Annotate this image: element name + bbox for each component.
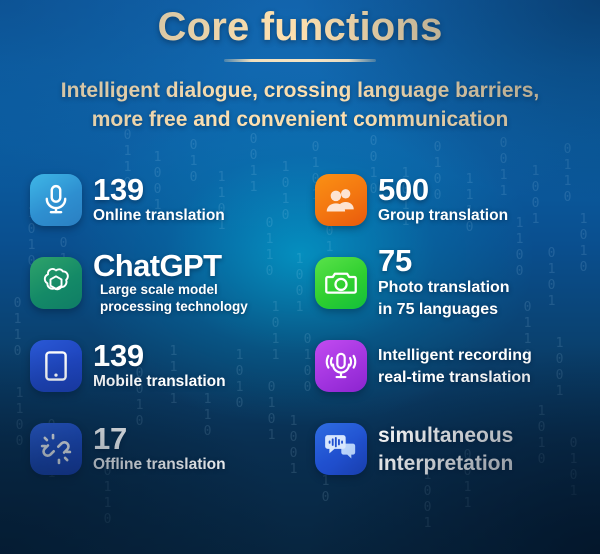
- feature-value: ChatGPT: [93, 250, 248, 281]
- feature-text: ChatGPT Large scale model processing tec…: [93, 250, 248, 315]
- openai-logo-icon: [30, 257, 82, 309]
- feature-label-line-2: interpretation: [378, 450, 513, 477]
- poster-header: Core functions Intelligent dialogue, cro…: [0, 0, 600, 134]
- feature-value: 17: [93, 423, 226, 454]
- feature-label-line-2: real-time translation: [378, 367, 532, 388]
- camera-icon: [315, 257, 367, 309]
- feature-intelligent-recording[interactable]: Intelligent recording real-time translat…: [315, 324, 582, 407]
- group-people-icon: [315, 174, 367, 226]
- feature-label: Online translation: [93, 206, 225, 225]
- feature-text: Intelligent recording real-time translat…: [378, 344, 532, 388]
- feature-value: 139: [93, 340, 226, 371]
- feature-value: 500: [378, 174, 508, 205]
- page-title: Core functions: [0, 4, 600, 50]
- feature-label-line-1: simultaneous: [378, 422, 513, 449]
- feature-simultaneous-interpretation[interactable]: simultaneous interpretation: [315, 407, 582, 490]
- feature-text: 75 Photo translation in 75 languages: [378, 245, 510, 320]
- feature-label-line-2: in 75 languages: [378, 299, 510, 320]
- features-grid: 139 Online translation 500 Group transla…: [0, 158, 600, 490]
- feature-label: Mobile translation: [93, 372, 226, 391]
- feature-group-translation[interactable]: 500 Group translation: [315, 158, 582, 241]
- title-divider: [224, 59, 376, 62]
- feature-text: simultaneous interpretation: [378, 421, 513, 477]
- feature-text: 17 Offline translation: [93, 423, 226, 474]
- feature-label-line-1: Large scale model: [93, 282, 248, 298]
- feature-online-translation[interactable]: 139 Online translation: [30, 158, 297, 241]
- page-subtitle: Intelligent dialogue, crossing language …: [0, 76, 600, 134]
- feature-label-line-1: Intelligent recording: [378, 345, 532, 366]
- feature-photo-translation[interactable]: 75 Photo translation in 75 languages: [315, 241, 582, 324]
- poster-canvas: 0110 1001 010 1101 0011 1010 0101 110 00…: [0, 0, 600, 554]
- mobile-phone-icon: [30, 340, 82, 392]
- feature-mobile-translation[interactable]: 139 Mobile translation: [30, 324, 297, 407]
- feature-text: 139 Online translation: [93, 174, 225, 225]
- feature-label: Group translation: [378, 206, 508, 225]
- subtitle-line-2: more free and convenient communication: [26, 105, 574, 134]
- feature-chatgpt[interactable]: ChatGPT Large scale model processing tec…: [30, 241, 297, 324]
- feature-label-line-1: Photo translation: [378, 277, 510, 298]
- feature-value: 75: [378, 245, 510, 276]
- subtitle-line-1: Intelligent dialogue, crossing language …: [26, 76, 574, 105]
- feature-offline-translation[interactable]: 17 Offline translation: [30, 407, 297, 490]
- feature-value: 139: [93, 174, 225, 205]
- broken-link-icon: [30, 423, 82, 475]
- microphone-icon: [30, 174, 82, 226]
- recording-microphone-icon: [315, 340, 367, 392]
- feature-label: Offline translation: [93, 455, 226, 474]
- feature-text: 139 Mobile translation: [93, 340, 226, 391]
- feature-text: 500 Group translation: [378, 174, 508, 225]
- speech-bubbles-icon: [315, 423, 367, 475]
- feature-label-line-2: processing technology: [93, 299, 248, 315]
